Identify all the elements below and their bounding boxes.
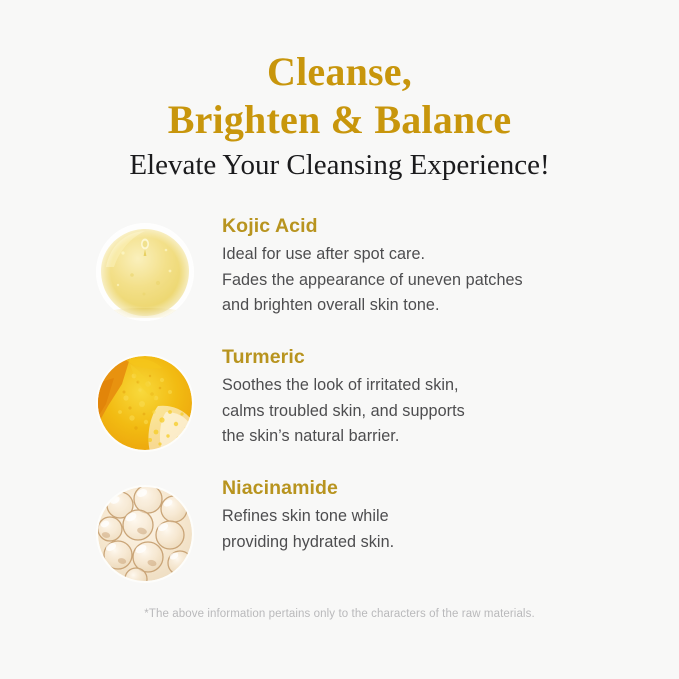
desc-line: the skin’s natural barrier.	[222, 424, 655, 450]
ingredient-row-niacinamide: Niacinamide Refines skin tone while prov…	[0, 467, 679, 598]
ingredient-description: Soothes the look of irritated skin, calm…	[222, 373, 655, 450]
footnote-disclaimer: *The above information pertains only to …	[0, 606, 679, 622]
desc-line: Soothes the look of irritated skin,	[222, 373, 655, 399]
ingredient-row-turmeric: Turmeric Soothes the look of irritated s…	[0, 336, 679, 467]
desc-line: Ideal for use after spot care.	[222, 242, 655, 268]
desc-line: providing hydrated skin.	[222, 530, 655, 556]
page-subheadline: Elevate Your Cleansing Experience!	[0, 148, 679, 182]
ingredient-title: Turmeric	[222, 344, 655, 370]
ingredient-title: Kojic Acid	[222, 213, 655, 239]
desc-line: calms troubled skin, and supports	[222, 399, 655, 425]
ingredient-text-kojic-acid: Kojic Acid Ideal for use after spot care…	[222, 213, 655, 319]
ingredient-text-niacinamide: Niacinamide Refines skin tone while prov…	[222, 475, 655, 555]
page-headline: Cleanse, Brighten & Balance	[0, 48, 679, 144]
capsule-bubbles-swatch-icon	[96, 485, 194, 583]
ingredient-description: Ideal for use after spot care. Fades the…	[222, 242, 655, 319]
headline-line-1: Cleanse,	[0, 48, 679, 96]
ingredient-row-kojic-acid: Kojic Acid Ideal for use after spot care…	[0, 205, 679, 336]
desc-line: Fades the appearance of uneven patches	[222, 268, 655, 294]
ingredient-title: Niacinamide	[222, 475, 655, 501]
turmeric-powder-swatch-icon	[96, 354, 194, 452]
ingredient-description: Refines skin tone while providing hydrat…	[222, 504, 655, 555]
desc-line: and brighten overall skin tone.	[222, 293, 655, 319]
ingredient-list: Kojic Acid Ideal for use after spot care…	[0, 205, 679, 598]
desc-line: Refines skin tone while	[222, 504, 655, 530]
ingredient-infographic-page: Cleanse, Brighten & Balance Elevate Your…	[0, 0, 679, 679]
serum-droplet-swatch-icon	[96, 223, 194, 321]
ingredient-text-turmeric: Turmeric Soothes the look of irritated s…	[222, 344, 655, 450]
headline-line-2: Brighten & Balance	[0, 96, 679, 144]
